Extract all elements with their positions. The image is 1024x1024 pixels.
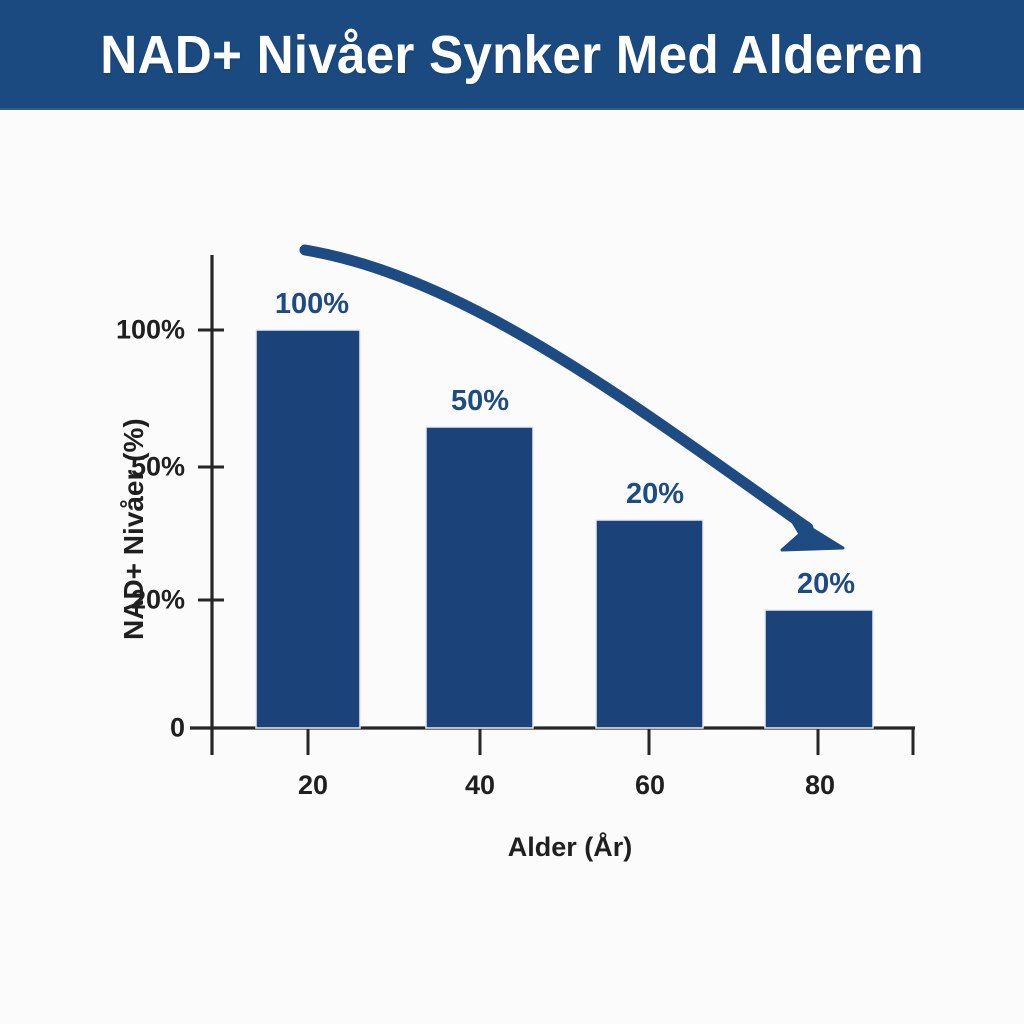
bar-series <box>256 330 873 728</box>
y-axis-title: NAD+ Nivåer (%) <box>118 418 150 640</box>
declining-trend-arrow <box>305 250 843 550</box>
bar-value-label-60: 20% <box>626 478 684 511</box>
x-tick-label-20: 20 <box>298 770 328 801</box>
x-tick-label-40: 40 <box>465 770 495 801</box>
chart-figure: 100% 50% 20% 0 20 40 60 80 100% 50% 20% … <box>0 110 1024 1024</box>
y-tick-label-0: 0 <box>60 713 185 744</box>
page-title: NAD+ Nivåer Synker Med Alderen <box>26 0 999 110</box>
header-banner: NAD+ Nivåer Synker Med Alderen <box>0 0 1024 110</box>
x-tick-label-80: 80 <box>805 770 835 801</box>
x-axis-title: Alder (År) <box>508 832 633 863</box>
bar-value-label-20: 100% <box>275 288 349 321</box>
bar-value-label-40: 50% <box>451 385 509 418</box>
y-tick-label-100: 100% <box>60 315 185 346</box>
bar-40 <box>426 427 533 728</box>
x-axis-ticks <box>308 728 913 755</box>
bar-value-label-80: 20% <box>797 568 855 601</box>
bar-20 <box>256 330 360 728</box>
chart-plot-svg <box>0 110 1024 1024</box>
bar-80 <box>765 610 873 728</box>
bar-60 <box>596 520 703 728</box>
x-tick-label-60: 60 <box>635 770 665 801</box>
